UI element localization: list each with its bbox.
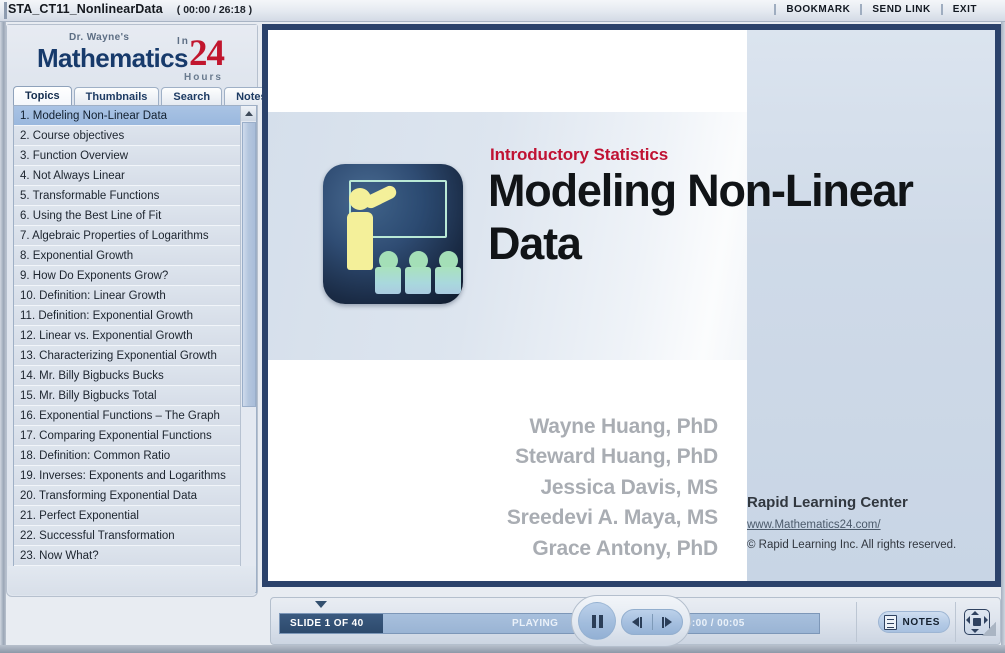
- copyright-text: © Rapid Learning Inc. All rights reserve…: [747, 539, 979, 551]
- brand-word: Mathematics: [37, 43, 188, 74]
- window-frame-bottom: [0, 645, 1005, 653]
- panel-footer: [8, 566, 256, 595]
- playback-status-label: PLAYING: [512, 618, 558, 629]
- course-code-title: STA_CT11_NonlinearData: [8, 2, 163, 16]
- step-backward-icon: [632, 617, 642, 628]
- brand-in: In: [177, 36, 190, 47]
- brand-number: 24: [189, 35, 224, 72]
- title-bar: STA_CT11_NonlinearData ( 00:00 / 26:18 )…: [0, 0, 1005, 22]
- topic-list-scrollbar[interactable]: [240, 106, 256, 592]
- slide-stage: Introductory Statistics Modeling Non-Lin…: [262, 24, 1001, 587]
- topic-list-item[interactable]: 22. Successful Transformation: [14, 526, 240, 546]
- topic-list-item[interactable]: 10. Definition: Linear Growth: [14, 286, 240, 306]
- author-name: Wayne Huang, PhD: [398, 412, 718, 442]
- brand-logo: Dr. Wayne's Mathematics In 24 Hours: [7, 25, 257, 85]
- scrollbar-thumb[interactable]: [242, 122, 256, 407]
- topic-list-item[interactable]: 21. Perfect Exponential: [14, 506, 240, 526]
- slide-subject-label: Introductory Statistics: [490, 145, 668, 165]
- student-body-shape: [435, 267, 461, 294]
- send-link-button[interactable]: SEND LINK: [862, 4, 940, 15]
- progress-bar[interactable]: SLIDE 1 OF 40 PLAYING 00:00 / 00:05: [279, 613, 820, 634]
- playback-control-bar: SLIDE 1 OF 40 PLAYING 00:00 / 00:05 NO: [270, 597, 1001, 645]
- topic-list-item[interactable]: 7. Algebraic Properties of Logarithms: [14, 226, 240, 246]
- slide-title: Modeling Non-Linear Data: [488, 165, 968, 270]
- topic-list-item[interactable]: 16. Exponential Functions – The Graph: [14, 406, 240, 426]
- teacher-body-shape: [347, 212, 373, 270]
- topic-list-item[interactable]: 17. Comparing Exponential Functions: [14, 426, 240, 446]
- organization-url-link[interactable]: www.Mathematics24.com/: [747, 519, 979, 531]
- exit-button[interactable]: EXIT: [943, 4, 987, 15]
- tab-topics[interactable]: Topics: [13, 86, 72, 105]
- organization-name: Rapid Learning Center: [747, 494, 979, 511]
- course-duration: ( 00:00 / 26:18 ): [177, 4, 252, 16]
- author-list: Wayne Huang, PhDSteward Huang, PhDJessic…: [398, 412, 718, 564]
- slide-canvas: Introductory Statistics Modeling Non-Lin…: [268, 30, 995, 581]
- author-name: Sreedevi A. Maya, MS: [398, 503, 718, 533]
- student-body-shape: [375, 267, 401, 294]
- transport-controls: [571, 595, 691, 647]
- window-frame-right: [1001, 22, 1005, 653]
- topic-list-item[interactable]: 5. Transformable Functions: [14, 186, 240, 206]
- topic-list: 1. Modeling Non-Linear Data2. Course obj…: [14, 106, 240, 592]
- scroll-up-icon[interactable]: [241, 106, 256, 121]
- navigation-panel: Dr. Wayne's Mathematics In 24 Hours Topi…: [6, 24, 258, 597]
- notes-button[interactable]: NOTES: [878, 611, 950, 633]
- previous-slide-button[interactable]: [622, 610, 652, 634]
- brand-logo-inner: Dr. Wayne's Mathematics In 24 Hours: [27, 29, 241, 83]
- title-bar-left: STA_CT11_NonlinearData ( 00:00 / 26:18 ): [8, 2, 252, 16]
- student-body-shape: [405, 267, 431, 294]
- control-divider: [856, 602, 857, 642]
- step-buttons: [621, 609, 683, 635]
- title-bar-links: BOOKMARK SEND LINK EXIT: [774, 4, 987, 15]
- notes-document-icon: [884, 615, 897, 630]
- topic-list-item[interactable]: 11. Definition: Exponential Growth: [14, 306, 240, 326]
- topic-list-item[interactable]: 8. Exponential Growth: [14, 246, 240, 266]
- topic-list-item[interactable]: 19. Inverses: Exponents and Logarithms: [14, 466, 240, 486]
- tab-thumbnails[interactable]: Thumbnails: [74, 87, 160, 105]
- topic-list-item[interactable]: 14. Mr. Billy Bigbucks Bucks: [14, 366, 240, 386]
- topic-list-container: 1. Modeling Non-Linear Data2. Course obj…: [13, 105, 257, 593]
- organization-block: Rapid Learning Center www.Mathematics24.…: [747, 494, 979, 551]
- topic-list-item[interactable]: 4. Not Always Linear: [14, 166, 240, 186]
- slide-position-label: SLIDE 1 OF 40: [290, 618, 364, 629]
- title-accent-bar: [4, 2, 7, 19]
- panel-tabs: Topics Thumbnails Search Notes: [13, 86, 257, 105]
- topic-list-item[interactable]: 1. Modeling Non-Linear Data: [14, 106, 240, 126]
- step-forward-icon: [662, 617, 672, 628]
- bookmark-button[interactable]: BOOKMARK: [776, 4, 860, 15]
- topic-list-item[interactable]: 6. Using the Best Line of Fit: [14, 206, 240, 226]
- topic-list-item[interactable]: 9. How Do Exponents Grow?: [14, 266, 240, 286]
- topic-list-item[interactable]: 23. Now What?: [14, 546, 240, 566]
- window-resize-grip[interactable]: [982, 622, 996, 636]
- control-divider: [955, 602, 956, 642]
- pause-button[interactable]: [578, 602, 616, 640]
- notes-button-label: NOTES: [903, 617, 940, 628]
- brand-hours: Hours: [184, 72, 223, 83]
- tab-search[interactable]: Search: [161, 87, 222, 105]
- topic-list-item[interactable]: 3. Function Overview: [14, 146, 240, 166]
- topic-list-item[interactable]: 13. Characterizing Exponential Growth: [14, 346, 240, 366]
- author-name: Steward Huang, PhD: [398, 442, 718, 472]
- topic-list-item[interactable]: 15. Mr. Billy Bigbucks Total: [14, 386, 240, 406]
- topic-list-item[interactable]: 18. Definition: Common Ratio: [14, 446, 240, 466]
- topic-list-item[interactable]: 12. Linear vs. Exponential Growth: [14, 326, 240, 346]
- course-player-window: STA_CT11_NonlinearData ( 00:00 / 26:18 )…: [0, 0, 1005, 653]
- author-name: Jessica Davis, MS: [398, 473, 718, 503]
- author-name: Grace Antony, PhD: [398, 534, 718, 564]
- brand-prefix: Dr. Wayne's: [69, 32, 129, 43]
- next-slide-button[interactable]: [653, 610, 683, 634]
- progress-marker-icon[interactable]: [315, 601, 327, 608]
- topic-list-item[interactable]: 2. Course objectives: [14, 126, 240, 146]
- topic-list-item[interactable]: 20. Transforming Exponential Data: [14, 486, 240, 506]
- course-illustration-icon: [323, 164, 463, 304]
- expand-arrows-icon: [973, 618, 981, 626]
- pause-icon: [592, 615, 603, 628]
